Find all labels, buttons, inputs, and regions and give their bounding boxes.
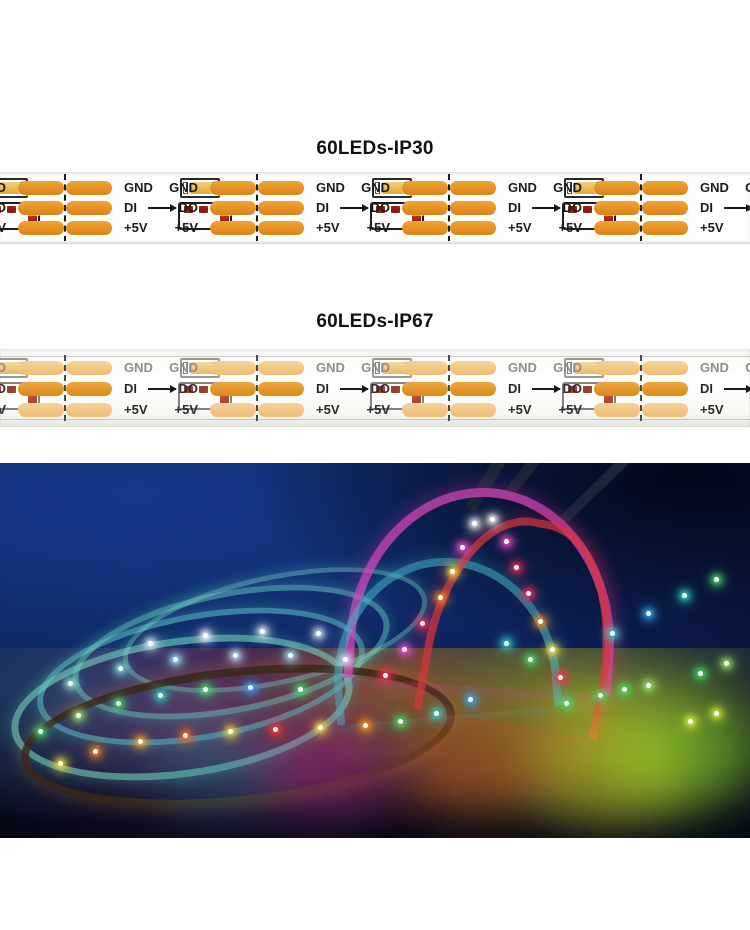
led-point-light bbox=[472, 521, 477, 526]
solder-pad-data-right bbox=[450, 201, 496, 215]
pad-label-group-left: GND DO +5V bbox=[536, 349, 586, 427]
solder-pad-gnd-left bbox=[18, 361, 64, 375]
label-data-in: DI bbox=[700, 201, 713, 214]
solder-pad-gnd-right bbox=[642, 181, 688, 195]
led-point-light bbox=[228, 729, 233, 734]
label-gnd: GND bbox=[700, 181, 729, 194]
solder-pad-data-left bbox=[402, 201, 448, 215]
label-data-out: DO bbox=[728, 382, 750, 395]
led-point-light bbox=[173, 657, 178, 662]
product-image-page: 60LEDs-IP30 GND DO +5VGND DI +5V bbox=[0, 0, 750, 930]
solder-pad-gnd-left bbox=[210, 361, 256, 375]
label-5v: +5V bbox=[536, 403, 582, 416]
floor-light-glow bbox=[610, 698, 750, 808]
solder-pad-5v-right bbox=[258, 403, 304, 417]
solder-pad-5v-right bbox=[66, 403, 112, 417]
led-point-light bbox=[682, 593, 687, 598]
led-point-light bbox=[203, 687, 208, 692]
label-gnd: GND bbox=[316, 181, 345, 194]
solder-pad-cluster bbox=[586, 349, 696, 427]
label-gnd: GND bbox=[0, 361, 6, 374]
led-point-light bbox=[118, 666, 123, 671]
led-strip-arc bbox=[557, 463, 750, 527]
solder-pad-5v-left bbox=[594, 403, 640, 417]
led-point-light bbox=[438, 595, 443, 600]
led-point-light bbox=[558, 675, 563, 680]
pad-label-group-left: GND DO +5V bbox=[728, 172, 750, 244]
solder-pad-5v-left bbox=[402, 221, 448, 235]
label-gnd: GND bbox=[536, 181, 582, 194]
solder-pad-5v-left bbox=[210, 403, 256, 417]
label-gnd: GND bbox=[152, 181, 198, 194]
label-data-out: DO bbox=[0, 201, 6, 214]
label-5v: +5V bbox=[728, 403, 750, 416]
pad-label-group-left: GND DO +5V bbox=[344, 172, 394, 244]
led-point-light bbox=[714, 577, 719, 582]
led-point-light bbox=[646, 683, 651, 688]
solder-pad-gnd-right bbox=[258, 361, 304, 375]
led-point-light bbox=[76, 713, 81, 718]
label-gnd: GND bbox=[316, 361, 345, 374]
solder-pad-cluster bbox=[202, 172, 312, 244]
led-point-light bbox=[724, 661, 729, 666]
solder-pad-data-right bbox=[66, 201, 112, 215]
led-point-light bbox=[450, 569, 455, 574]
label-gnd: GND bbox=[0, 181, 6, 194]
led-point-light bbox=[550, 647, 555, 652]
led-point-light bbox=[646, 611, 651, 616]
led-point-light bbox=[68, 681, 73, 686]
pad-label-group-left: GND DO +5V bbox=[0, 349, 10, 427]
led-point-light bbox=[460, 545, 465, 550]
label-data-in: DI bbox=[316, 382, 329, 395]
solder-pad-data-left bbox=[18, 201, 64, 215]
led-point-light bbox=[528, 657, 533, 662]
label-gnd: GND bbox=[700, 361, 729, 374]
solder-pad-gnd-left bbox=[402, 181, 448, 195]
led-point-light bbox=[688, 719, 693, 724]
led-point-light bbox=[490, 517, 495, 522]
led-point-light bbox=[398, 719, 403, 724]
cut-line-marker bbox=[64, 174, 66, 242]
strip-segment: GND DO +5VGND DI +5V bbox=[536, 349, 728, 427]
label-gnd: GND bbox=[344, 181, 390, 194]
led-point-light bbox=[298, 687, 303, 692]
solder-pad-5v-right bbox=[258, 221, 304, 235]
label-data-out: DO bbox=[344, 201, 390, 214]
led-point-light bbox=[420, 621, 425, 626]
solder-pad-data-left bbox=[402, 382, 448, 396]
led-point-light bbox=[318, 725, 323, 730]
cut-line-marker bbox=[640, 355, 642, 421]
label-5v: +5V bbox=[0, 403, 6, 416]
cut-line-marker bbox=[64, 355, 66, 421]
led-point-light bbox=[148, 641, 153, 646]
led-point-light bbox=[468, 697, 473, 702]
label-5v: +5V bbox=[316, 221, 340, 234]
label-data-out: DO bbox=[0, 382, 6, 395]
led-point-light bbox=[248, 685, 253, 690]
section-title-ip30: 60LEDs-IP30 bbox=[0, 138, 750, 160]
solder-pad-5v-left bbox=[18, 403, 64, 417]
led-point-light bbox=[116, 701, 121, 706]
solder-pad-5v-left bbox=[594, 221, 640, 235]
cut-line-marker bbox=[448, 174, 450, 242]
strip-segment: GND DO +5VGND DI +5V bbox=[728, 349, 750, 427]
solder-pad-data-right bbox=[66, 382, 112, 396]
label-gnd: GND bbox=[508, 361, 537, 374]
solder-pad-data-left bbox=[210, 382, 256, 396]
label-data-out: DO bbox=[152, 201, 198, 214]
section-title-ip67: 60LEDs-IP67 bbox=[0, 311, 750, 333]
solder-pad-data-left bbox=[594, 382, 640, 396]
solder-pad-cluster bbox=[394, 172, 504, 244]
solder-pad-data-left bbox=[594, 201, 640, 215]
floor-light-glow bbox=[150, 725, 280, 810]
led-point-light bbox=[598, 693, 603, 698]
label-data-out: DO bbox=[728, 201, 750, 214]
solder-pad-gnd-left bbox=[210, 181, 256, 195]
label-data-in: DI bbox=[124, 382, 137, 395]
solder-pad-5v-left bbox=[18, 221, 64, 235]
solder-pad-5v-right bbox=[66, 221, 112, 235]
led-point-light bbox=[260, 629, 265, 634]
led-point-light bbox=[526, 591, 531, 596]
pad-label-group-left: GND DO +5V bbox=[152, 172, 202, 244]
label-5v: +5V bbox=[700, 221, 724, 234]
pad-label-group-left: GND DO +5V bbox=[536, 172, 586, 244]
label-data-out: DO bbox=[536, 382, 582, 395]
label-gnd: GND bbox=[124, 181, 153, 194]
led-point-light bbox=[138, 739, 143, 744]
label-5v: +5V bbox=[728, 221, 750, 234]
led-point-light bbox=[622, 687, 627, 692]
strip-segment: GND DO +5VGND DI +5V bbox=[344, 172, 536, 244]
label-5v: +5V bbox=[536, 221, 582, 234]
photo-strip-artwork bbox=[0, 463, 750, 838]
led-point-light bbox=[610, 631, 615, 636]
led-strip-photo bbox=[0, 463, 750, 838]
solder-pad-5v-right bbox=[642, 403, 688, 417]
led-point-light bbox=[183, 733, 188, 738]
solder-pad-gnd-left bbox=[594, 361, 640, 375]
strip-segment: GND DO +5VGND DI +5V bbox=[344, 349, 536, 427]
led-point-light bbox=[714, 711, 719, 716]
label-5v: +5V bbox=[152, 221, 198, 234]
led-point-light bbox=[564, 701, 569, 706]
label-gnd: GND bbox=[536, 361, 582, 374]
label-data-in: DI bbox=[700, 382, 713, 395]
led-point-light bbox=[273, 727, 278, 732]
solder-pad-gnd-right bbox=[258, 181, 304, 195]
label-data-out: DO bbox=[536, 201, 582, 214]
label-5v: +5V bbox=[0, 221, 6, 234]
cut-line-marker bbox=[256, 355, 258, 421]
label-5v: +5V bbox=[344, 221, 390, 234]
solder-pad-5v-left bbox=[402, 403, 448, 417]
solder-pad-5v-right bbox=[642, 221, 688, 235]
solder-pad-data-right bbox=[258, 382, 304, 396]
strip-segment: GND DO +5VGND DI +5V bbox=[0, 172, 152, 244]
strip-segment: GND DO +5VGND DI +5V bbox=[728, 172, 750, 244]
solder-pad-cluster bbox=[10, 349, 120, 427]
led-point-light bbox=[402, 647, 407, 652]
led-strip-ip30-diagram: GND DO +5VGND DI +5V GND bbox=[0, 172, 750, 244]
label-5v: +5V bbox=[508, 221, 532, 234]
label-5v: +5V bbox=[700, 403, 724, 416]
solder-pad-data-left bbox=[18, 382, 64, 396]
solder-pad-cluster bbox=[394, 349, 504, 427]
led-point-light bbox=[504, 539, 509, 544]
label-gnd: GND bbox=[728, 181, 750, 194]
solder-pad-5v-right bbox=[450, 403, 496, 417]
pad-label-group-left: GND DO +5V bbox=[728, 349, 750, 427]
label-gnd: GND bbox=[152, 361, 198, 374]
strip-segment: GND DO +5VGND DI +5V bbox=[536, 172, 728, 244]
solder-pad-gnd-right bbox=[642, 361, 688, 375]
solder-pad-data-right bbox=[642, 201, 688, 215]
led-point-light bbox=[38, 729, 43, 734]
solder-pad-cluster bbox=[202, 349, 312, 427]
label-gnd: GND bbox=[728, 361, 750, 374]
label-gnd: GND bbox=[124, 361, 153, 374]
solder-pad-cluster bbox=[586, 172, 696, 244]
solder-pad-gnd-left bbox=[18, 181, 64, 195]
pad-label-group-left: GND DO +5V bbox=[344, 349, 394, 427]
led-point-light bbox=[158, 693, 163, 698]
solder-pad-data-right bbox=[450, 382, 496, 396]
label-data-in: DI bbox=[124, 201, 137, 214]
solder-pad-gnd-right bbox=[66, 361, 112, 375]
led-point-light bbox=[514, 565, 519, 570]
solder-pad-cluster bbox=[10, 172, 120, 244]
label-5v: +5V bbox=[344, 403, 390, 416]
pad-label-group-left: GND DO +5V bbox=[152, 349, 202, 427]
label-5v: +5V bbox=[152, 403, 198, 416]
floor-light-glow bbox=[400, 718, 550, 818]
solder-pad-gnd-right bbox=[450, 181, 496, 195]
led-point-light bbox=[288, 653, 293, 658]
strip-segment: GND DO +5VGND DI +5V bbox=[152, 172, 344, 244]
cut-line-marker bbox=[256, 174, 258, 242]
label-gnd: GND bbox=[508, 181, 537, 194]
pad-label-group-left: GND DO +5V bbox=[0, 172, 10, 244]
label-5v: +5V bbox=[508, 403, 532, 416]
solder-pad-data-right bbox=[642, 382, 688, 396]
strip-segment: GND DO +5VGND DI +5V bbox=[0, 349, 152, 427]
solder-pad-5v-left bbox=[210, 221, 256, 235]
label-data-in: DI bbox=[316, 201, 329, 214]
led-strip-ip67-diagram: GND DO +5VGND DI +5V GND bbox=[0, 349, 750, 427]
solder-pad-gnd-right bbox=[66, 181, 112, 195]
led-point-light bbox=[203, 633, 208, 638]
solder-pad-gnd-right bbox=[450, 361, 496, 375]
led-point-light bbox=[434, 711, 439, 716]
solder-pad-gnd-left bbox=[402, 361, 448, 375]
led-point-light bbox=[538, 619, 543, 624]
led-point-light bbox=[58, 761, 63, 766]
label-data-out: DO bbox=[344, 382, 390, 395]
strip-segment: GND DO +5VGND DI +5V bbox=[152, 349, 344, 427]
solder-pad-gnd-left bbox=[594, 181, 640, 195]
label-data-in: DI bbox=[508, 382, 521, 395]
led-point-light bbox=[316, 631, 321, 636]
led-point-light bbox=[698, 671, 703, 676]
cut-line-marker bbox=[640, 174, 642, 242]
label-5v: +5V bbox=[316, 403, 340, 416]
label-5v: +5V bbox=[124, 403, 148, 416]
led-point-light bbox=[363, 723, 368, 728]
solder-pad-5v-right bbox=[450, 221, 496, 235]
led-point-light bbox=[233, 653, 238, 658]
led-point-light bbox=[343, 657, 348, 662]
led-point-light bbox=[504, 641, 509, 646]
solder-pad-data-right bbox=[258, 201, 304, 215]
label-5v: +5V bbox=[124, 221, 148, 234]
label-data-out: DO bbox=[152, 382, 198, 395]
label-gnd: GND bbox=[344, 361, 390, 374]
solder-pad-data-left bbox=[210, 201, 256, 215]
label-data-in: DI bbox=[508, 201, 521, 214]
led-point-light bbox=[383, 673, 388, 678]
led-point-light bbox=[93, 749, 98, 754]
cut-line-marker bbox=[448, 355, 450, 421]
